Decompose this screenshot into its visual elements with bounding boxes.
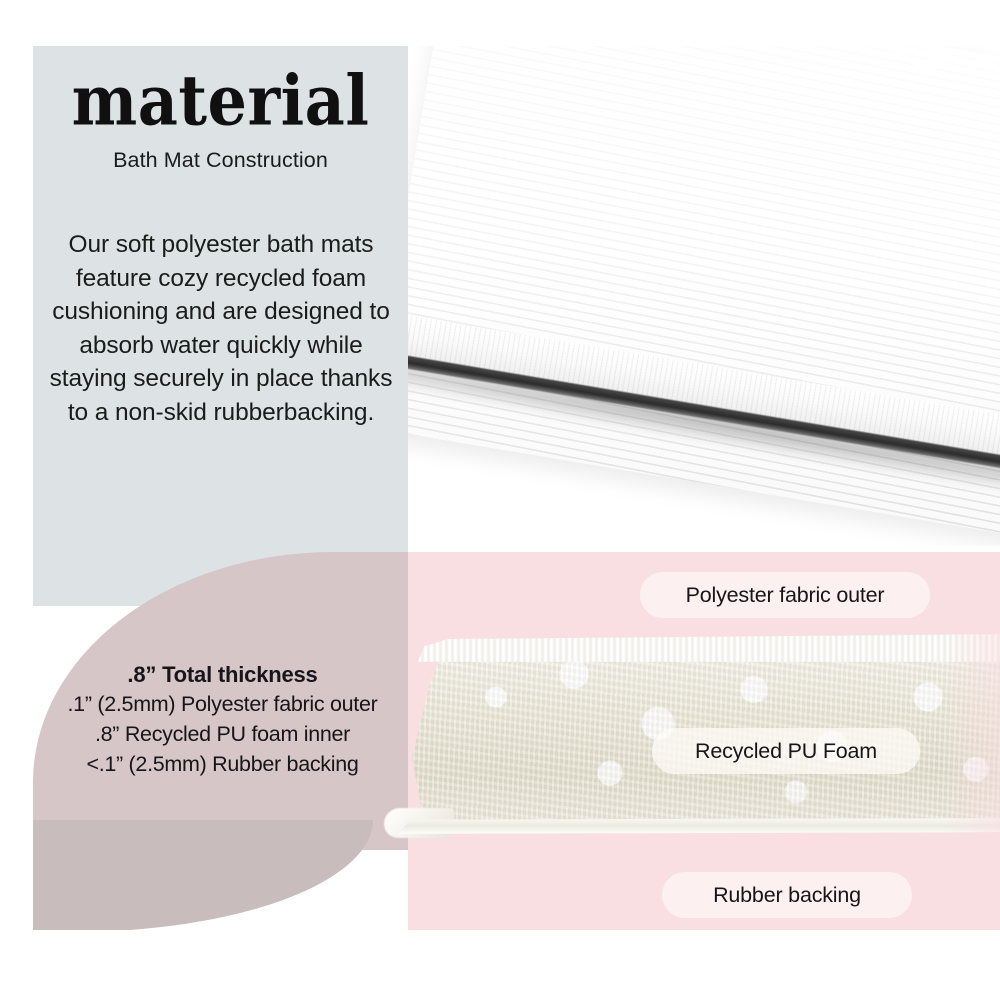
swirl-s-logo-icon	[886, 4, 962, 80]
foam-rubber-backing-strip	[398, 818, 1000, 834]
callout-recycled-pu-foam: Recycled PU Foam	[652, 728, 920, 774]
header-stripe-texture	[0, 0, 1000, 9]
spec-line-foam: .8” Recycled PU foam inner	[30, 720, 415, 750]
foam-top-fabric-layer	[412, 634, 1000, 662]
bath-mat-corner-photo	[408, 46, 1000, 546]
page-title: material	[33, 66, 408, 135]
page-title-block: material Bath Mat Construction	[33, 70, 408, 173]
header-accent-ribbon	[0, 0, 1000, 12]
foam-right-fade	[940, 612, 1000, 862]
thickness-spec-block: .8” Total thickness .1” (2.5mm) Polyeste…	[30, 660, 415, 779]
description-paragraph: Our soft polyester bath mats feature coz…	[40, 228, 402, 429]
spec-total-thickness: .8” Total thickness	[30, 660, 415, 690]
bottom-white-strip	[0, 930, 1000, 1000]
callout-rubber-backing: Rubber backing	[662, 872, 912, 918]
page-subtitle: Bath Mat Construction	[33, 148, 408, 173]
callout-polyester-fabric-outer: Polyester fabric outer	[640, 572, 930, 618]
header-stripe-texture-secondary	[0, 0, 1000, 9]
spec-line-outer: .1” (2.5mm) Polyester fabric outer	[30, 690, 415, 720]
infographic-canvas: material Bath Mat Construction Our soft …	[0, 0, 1000, 1000]
spec-line-backing: <.1” (2.5mm) Rubber backing	[30, 750, 415, 780]
header-dark-band	[0, 0, 1000, 9]
